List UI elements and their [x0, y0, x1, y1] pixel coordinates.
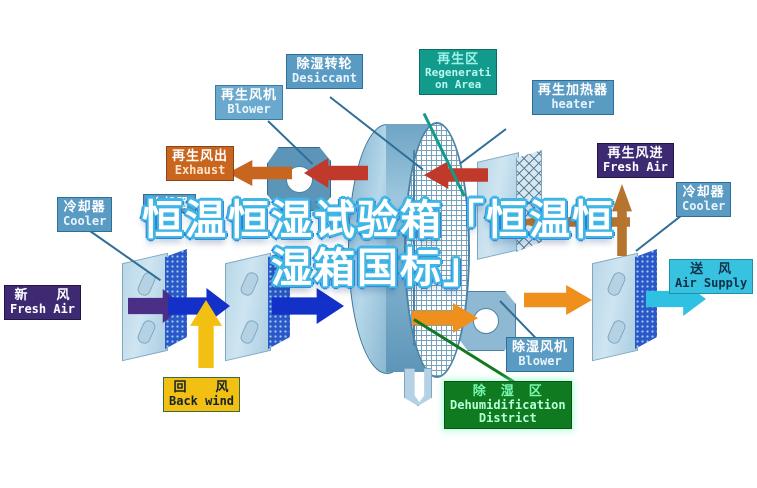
label-back-wind[interactable]: 回 风 Back wind — [163, 377, 240, 412]
label-dehumidification-blower-en: Blower — [512, 355, 568, 368]
label-regeneration-blower-cn: 再生风机 — [221, 88, 277, 103]
label-air-supply-en: Air Supply — [675, 277, 747, 290]
label-dehumidification-district-en2: District — [450, 412, 566, 425]
label-desiccant-wheel-en: Desiccant — [292, 72, 357, 85]
dehumidified-air-arrow-2 — [524, 285, 592, 315]
label-fresh-air-inlet[interactable]: 新 风 Fresh Air — [4, 285, 81, 320]
label-back-wind-cn: 回 风 — [169, 380, 234, 395]
label-regeneration-blower-en: Blower — [221, 103, 277, 116]
label-regeneration-fresh-air-en: Fresh Air — [603, 161, 668, 174]
label-air-supply-cn: 送 风 — [675, 262, 747, 277]
label-dehumidification-district[interactable]: 除 湿 区 Dehumidification District — [444, 381, 572, 429]
label-exhaust-cn: 再生风出 — [172, 149, 228, 164]
label-regeneration-fresh-air-cn: 再生风进 — [603, 146, 668, 161]
label-regeneration-area[interactable]: 再生区 Regenerati on Area — [419, 49, 497, 95]
label-dehumidification-district-cn: 除 湿 区 — [450, 384, 566, 399]
label-regeneration-blower[interactable]: 再生风机 Blower — [215, 85, 283, 120]
cooler-unit-mid-body — [225, 253, 271, 362]
label-regeneration-area-cn: 再生区 — [425, 52, 491, 67]
label-cooler-mid-cn: 冷却器 — [150, 197, 189, 210]
label-cooler-right-en: Cooler — [682, 200, 725, 213]
regeneration-heater-grid-face — [516, 150, 542, 252]
label-dehumidification-blower[interactable]: 除湿风机 Blower — [506, 337, 574, 372]
label-regeneration-heater[interactable]: 再生加热器 heater — [532, 80, 614, 115]
label-dehumidification-blower-cn: 除湿风机 — [512, 340, 568, 355]
label-regeneration-heater-cn: 再生加热器 — [538, 83, 608, 98]
label-cooler-right[interactable]: 冷却器 Cooler — [676, 182, 731, 217]
label-fresh-air-inlet-en: Fresh Air — [10, 303, 75, 316]
label-cooler-left[interactable]: 冷却器 Cooler — [57, 197, 112, 232]
cooler-unit-right-body — [592, 253, 638, 362]
label-cooler-left-en: Cooler — [63, 215, 106, 228]
label-cooler-mid[interactable]: 冷却器 — [143, 194, 196, 213]
label-fresh-air-inlet-cn: 新 风 — [10, 288, 75, 303]
label-back-wind-en: Back wind — [169, 395, 234, 408]
label-regeneration-heater-en: heater — [538, 98, 608, 111]
label-cooler-right-cn: 冷却器 — [682, 185, 725, 200]
label-exhaust-en: Exhaust — [172, 164, 228, 177]
diagram-canvas: 除湿转轮 Desiccant 再生风机 Blower 再生区 Regenerat… — [0, 0, 757, 488]
label-regeneration-fresh-air[interactable]: 再生风进 Fresh Air — [597, 143, 674, 178]
label-desiccant-wheel[interactable]: 除湿转轮 Desiccant — [286, 54, 363, 89]
label-dehumidification-district-en1: Dehumidification — [450, 399, 566, 412]
label-cooler-left-cn: 冷却器 — [63, 200, 106, 215]
label-desiccant-wheel-cn: 除湿转轮 — [292, 57, 357, 72]
label-exhaust[interactable]: 再生风出 Exhaust — [166, 146, 234, 181]
label-regeneration-area-en2: on Area — [425, 79, 491, 91]
label-air-supply[interactable]: 送 风 Air Supply — [669, 259, 753, 294]
dehumidification-blower-inlet — [473, 308, 499, 334]
label-regeneration-area-en1: Regenerati — [425, 67, 491, 79]
